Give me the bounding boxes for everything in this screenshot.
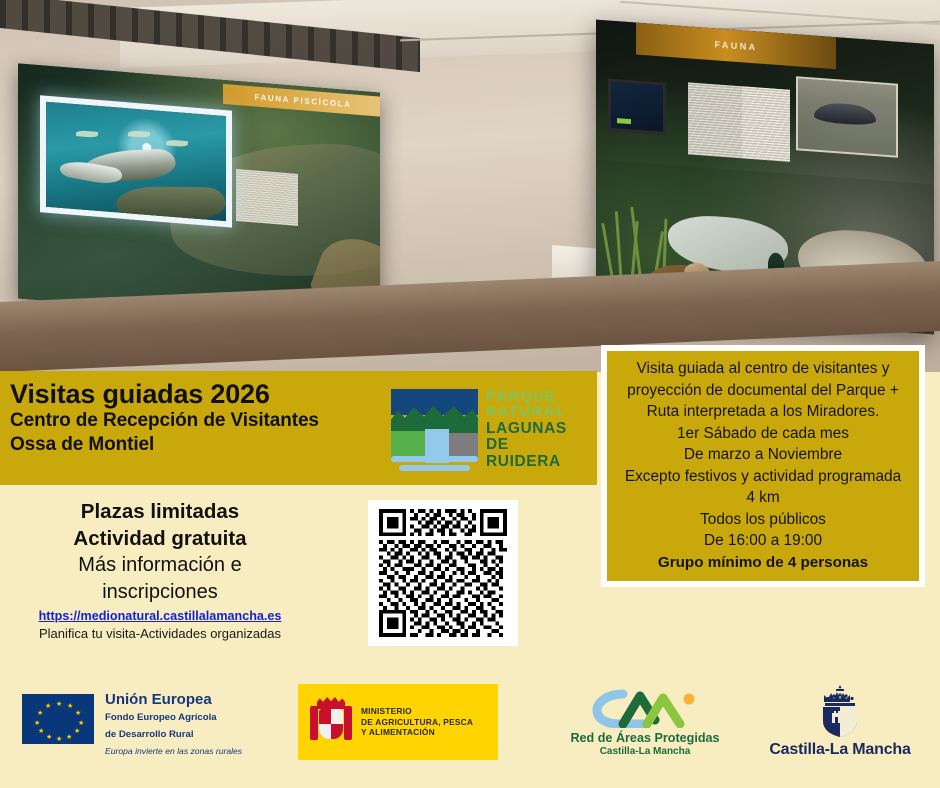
more-info-line2: inscripciones bbox=[0, 579, 320, 606]
eu-fund-line2: de Desarrollo Rural bbox=[105, 729, 242, 741]
panel-caption-block-2 bbox=[742, 86, 790, 162]
panel-caption-block bbox=[236, 169, 298, 226]
logo-water-line bbox=[391, 456, 478, 462]
ministerio-logo: MINISTERIO DE AGRICULTURA, PESCA Y ALIME… bbox=[298, 684, 498, 760]
bat-specimen bbox=[814, 102, 876, 127]
bat-display-case bbox=[796, 76, 898, 157]
ministerio-text: MINISTERIO DE AGRICULTURA, PESCA Y ALIME… bbox=[361, 706, 473, 739]
activity-info-inner: Visita guiada al centro de visitantes y … bbox=[607, 351, 919, 581]
qr-code-container[interactable] bbox=[368, 500, 518, 646]
info-line: Ruta interpretada a los Miradores. bbox=[647, 402, 880, 422]
info-line: 4 km bbox=[746, 488, 779, 508]
info-line: proyección de documental del Parque + bbox=[627, 381, 899, 401]
page-title: Visitas guiadas 2026 bbox=[10, 379, 319, 409]
aquarium-lightbox bbox=[40, 95, 232, 227]
qr-code-icon[interactable] bbox=[379, 509, 507, 637]
eu-flag-icon: ★ ★ ★ ★ ★ ★ ★ ★ ★ ★ ★ ★ bbox=[22, 694, 94, 744]
title-group: Visitas guiadas 2026 Centro de Recepción… bbox=[10, 379, 319, 457]
park-logo-line1: PARQUE bbox=[486, 390, 585, 405]
info-line: De marzo a Noviembre bbox=[684, 445, 842, 465]
ministerio-line3: Y ALIMENTACIÓN bbox=[361, 727, 473, 738]
spain-coat-of-arms-icon bbox=[310, 696, 352, 748]
poster: FAUNA PISCÍCOLA FAUNA bbox=[0, 0, 940, 788]
free-activity-text: Actividad gratuita bbox=[0, 525, 320, 552]
page-subtitle: Centro de Recepción de Visitantes bbox=[10, 409, 319, 433]
plan-visit-note: Planifica tu visita-Actividades organiza… bbox=[0, 626, 320, 641]
information-monitor bbox=[608, 78, 666, 134]
jccm-shield-icon bbox=[810, 684, 870, 738]
info-line-bold: Grupo mínimo de 4 personas bbox=[658, 553, 868, 573]
fish-fry bbox=[128, 130, 150, 138]
large-fish bbox=[115, 186, 226, 221]
park-logo-text: PARQUE NATURAL LAGUNAS DE RUIDERA bbox=[486, 390, 585, 470]
shield-quarter bbox=[319, 709, 331, 724]
limited-places-text: Plazas limitadas bbox=[0, 498, 320, 525]
panel-title-text: FAUNA bbox=[715, 39, 758, 52]
footer-logos: ★ ★ ★ ★ ★ ★ ★ ★ ★ ★ ★ ★ Unión Europea Fo… bbox=[0, 676, 940, 788]
eu-logo: ★ ★ ★ ★ ★ ★ ★ ★ ★ ★ ★ ★ Unión Europea Fo… bbox=[22, 690, 272, 768]
jccm-label: Castilla-La Mancha bbox=[760, 741, 920, 759]
eu-title: Unión Europea bbox=[105, 691, 242, 708]
page-location: Ossa de Montiel bbox=[10, 433, 319, 457]
shield-quarter bbox=[319, 724, 331, 739]
registration-link[interactable]: https://medionatural.castillalamancha.es bbox=[0, 609, 320, 623]
park-logo: PARQUE NATURAL LAGUNAS DE RUIDERA bbox=[391, 381, 585, 479]
cma-mark-icon bbox=[585, 686, 705, 728]
info-line: Todos los públicos bbox=[700, 510, 826, 530]
park-logo-icon bbox=[391, 389, 478, 471]
more-info-line1: Más información e bbox=[0, 552, 320, 579]
pillar-left bbox=[310, 706, 318, 740]
logo-water-line-2 bbox=[399, 465, 470, 471]
fish-fry bbox=[76, 130, 98, 138]
info-line: 1er Sábado de cada mes bbox=[677, 424, 849, 444]
pillar-right bbox=[344, 706, 352, 740]
park-logo-line4: DE RUIDERA bbox=[486, 437, 585, 470]
eu-logo-text: Unión Europea Fondo Europeo Agrícola de … bbox=[105, 690, 242, 756]
eu-fund-line1: Fondo Europeo Agrícola bbox=[105, 712, 242, 724]
ministerio-line2: DE AGRICULTURA, PESCA bbox=[361, 717, 473, 728]
red-areas-protegidas-logo: Red de Áreas Protegidas Castilla-La Manc… bbox=[560, 686, 730, 766]
park-logo-line3: LAGUNAS bbox=[486, 421, 585, 437]
shield bbox=[319, 709, 343, 739]
castilla-la-mancha-logo: Castilla-La Mancha bbox=[760, 684, 920, 770]
jccm-svg-icon bbox=[810, 684, 870, 738]
monitor-screen bbox=[611, 82, 663, 132]
info-line: De 16:00 a 19:00 bbox=[704, 531, 822, 551]
aquarium-scene bbox=[46, 102, 226, 221]
activity-info-box: Visita guiada al centro de visitantes y … bbox=[601, 345, 925, 587]
exhibition-photo: FAUNA PISCÍCOLA FAUNA bbox=[0, 0, 940, 372]
info-line: Visita guiada al centro de visitantes y bbox=[637, 359, 890, 379]
panel-title-text: FAUNA PISCÍCOLA bbox=[254, 92, 351, 109]
crown bbox=[317, 696, 345, 709]
shield-quarter bbox=[331, 724, 343, 739]
park-logo-line2: NATURAL bbox=[486, 405, 585, 420]
info-line: Excepto festivos y actividad programada bbox=[625, 467, 901, 487]
registration-info: Plazas limitadas Actividad gratuita Más … bbox=[0, 498, 320, 641]
ministerio-line1: MINISTERIO bbox=[361, 706, 473, 717]
monitor-button bbox=[617, 118, 631, 124]
shield-quarter bbox=[331, 709, 343, 724]
eu-tagline: Europa invierte en las zonas rurales bbox=[105, 746, 242, 756]
logo-meadow bbox=[391, 431, 425, 459]
cma-line1: Red de Áreas Protegidas bbox=[560, 731, 730, 745]
cma-svg-icon bbox=[585, 686, 705, 728]
fish-fry bbox=[166, 139, 188, 147]
cma-line2: Castilla-La Mancha bbox=[560, 746, 730, 757]
